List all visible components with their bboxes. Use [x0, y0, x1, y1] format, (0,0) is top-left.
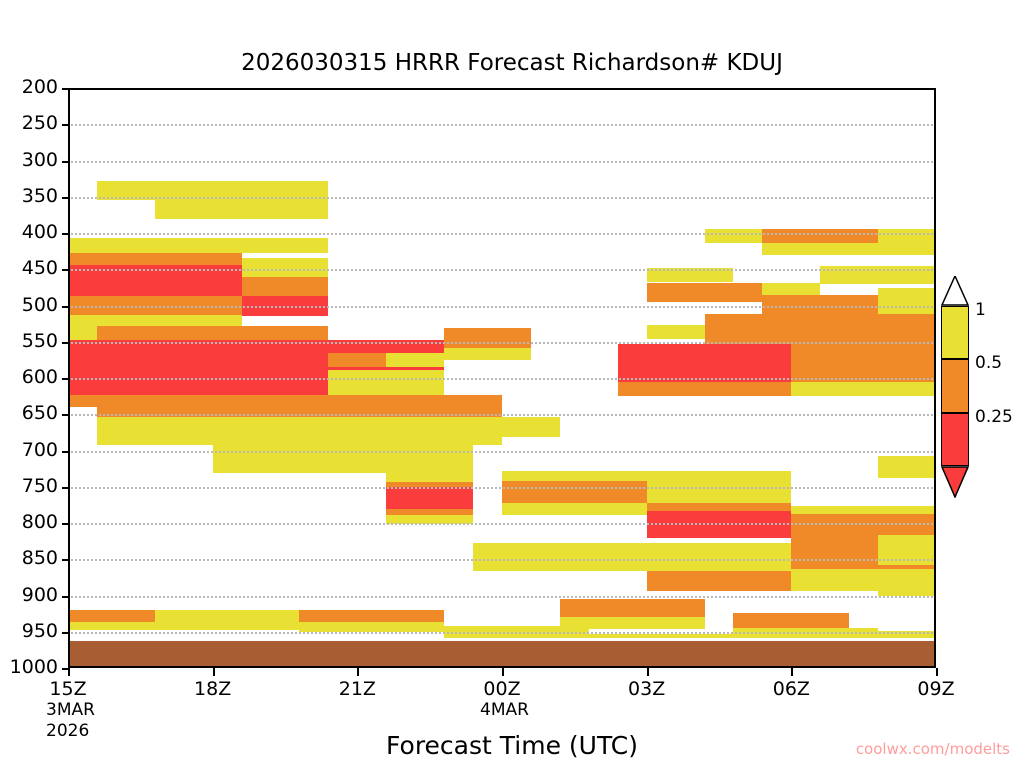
- y-axis-label: 900: [22, 584, 58, 606]
- gridline-horizontal: [68, 342, 936, 344]
- colorbar-segment: [941, 413, 969, 466]
- heatmap-cell: [68, 238, 328, 253]
- x-axis-label: 09Z: [917, 678, 954, 700]
- heatmap-cell: [791, 382, 936, 396]
- y-axis-label: 300: [22, 149, 58, 171]
- colorbar-tick-label: 0.5: [975, 353, 1002, 373]
- x-axis-tick: [357, 668, 359, 676]
- heatmap-cell: [444, 328, 531, 348]
- x-axis-date-label: 4MAR: [480, 700, 529, 720]
- gridline-horizontal: [68, 559, 936, 561]
- y-axis-tick: [62, 124, 70, 126]
- x-axis-label: 06Z: [773, 678, 810, 700]
- y-axis-tick: [62, 378, 70, 380]
- y-axis-label: 850: [22, 547, 58, 569]
- y-axis-tick: [62, 559, 70, 561]
- y-axis-label: 750: [22, 475, 58, 497]
- gridline-horizontal: [68, 632, 936, 634]
- y-axis-tick: [62, 487, 70, 489]
- gridline-horizontal: [68, 451, 936, 453]
- y-axis-tick: [62, 632, 70, 634]
- x-axis-label: 18Z: [194, 678, 231, 700]
- colorbar: 10.50.25: [941, 306, 969, 466]
- y-axis-label: 350: [22, 185, 58, 207]
- heatmap-cell: [647, 283, 763, 302]
- heatmap-cell: [68, 622, 155, 630]
- heatmap-cell: [878, 578, 936, 596]
- heatmap-cell: [68, 253, 97, 265]
- y-axis-tick: [62, 306, 70, 308]
- x-axis-tick: [213, 668, 215, 676]
- heatmap-cell: [878, 229, 936, 243]
- x-axis-tick: [68, 668, 70, 676]
- heatmap-cell: [502, 481, 647, 503]
- heatmap-cell: [68, 610, 155, 622]
- chart-page: 2026030315 HRRR Forecast Richardson# KDU…: [0, 0, 1024, 768]
- x-axis-tick: [502, 668, 504, 676]
- y-axis-label: 250: [22, 112, 58, 134]
- heatmap-cell: [705, 229, 763, 243]
- heatmap-cell: [647, 571, 792, 591]
- heatmap-cell: [299, 610, 444, 622]
- y-axis-tick: [62, 197, 70, 199]
- x-axis-tick: [936, 668, 938, 676]
- heatmap-cell: [618, 344, 792, 382]
- y-axis-tick: [62, 269, 70, 271]
- gridline-horizontal: [68, 523, 936, 525]
- gridline-horizontal: [68, 306, 936, 308]
- gridline-horizontal: [68, 197, 936, 199]
- gridline-horizontal: [68, 161, 936, 163]
- heatmap-cell: [415, 417, 560, 437]
- heatmap-plot-area: [68, 88, 936, 668]
- x-axis-label: 00Z: [483, 678, 520, 700]
- y-axis-tick: [62, 523, 70, 525]
- heatmap-cell: [560, 599, 705, 617]
- x-axis-label: 03Z: [628, 678, 665, 700]
- heatmap-cell: [791, 344, 936, 382]
- heatmap-cell: [762, 283, 820, 295]
- heatmap-cell: [386, 473, 473, 482]
- heatmap-cell: [328, 370, 444, 395]
- colorbar-tick-label: 0.25: [975, 407, 1013, 427]
- y-axis-label: 450: [22, 257, 58, 279]
- y-axis-tick: [62, 451, 70, 453]
- heatmap-cell: [647, 503, 792, 511]
- y-axis-tick: [62, 233, 70, 235]
- heatmap-cell: [878, 456, 936, 478]
- gridline-horizontal: [68, 233, 936, 235]
- heatmap-cell: [97, 326, 328, 340]
- heatmap-cell: [328, 353, 386, 367]
- y-axis-tick: [62, 414, 70, 416]
- x-axis-label: 15Z: [49, 678, 86, 700]
- heatmap-cell: [791, 506, 936, 514]
- terrain-fill: [68, 641, 936, 668]
- heatmap-cell: [878, 288, 936, 314]
- terrain-separator: [68, 638, 936, 641]
- colorbar-segment: [941, 306, 969, 359]
- heatmap-cell: [386, 353, 444, 367]
- heatmap-cell: [155, 200, 329, 219]
- x-axis-label: 21Z: [339, 678, 376, 700]
- y-axis-tick: [62, 596, 70, 598]
- x-axis-date-label: 3MAR: [46, 700, 95, 720]
- gridline-horizontal: [68, 269, 936, 271]
- gridline-horizontal: [68, 124, 936, 126]
- chart-title: 2026030315 HRRR Forecast Richardson# KDU…: [0, 50, 1024, 76]
- y-axis-label: 650: [22, 402, 58, 424]
- heatmap-cell: [97, 253, 242, 265]
- colorbar-segment: [941, 359, 969, 412]
- heatmap-cell: [299, 622, 444, 632]
- heatmap-cell: [68, 340, 328, 395]
- colorbar-tick-label: 1: [975, 300, 986, 320]
- y-axis-tick: [62, 342, 70, 344]
- y-axis-label: 550: [22, 330, 58, 352]
- heatmap-cell: [386, 487, 473, 509]
- heatmap-cell: [68, 315, 242, 326]
- heatmap-cell: [502, 503, 647, 515]
- gridline-horizontal: [68, 596, 936, 598]
- y-axis-tick: [62, 161, 70, 163]
- y-axis-label: 200: [22, 76, 58, 98]
- gridline-horizontal: [68, 378, 936, 380]
- y-axis-label: 500: [22, 294, 58, 316]
- x-axis-tick: [647, 668, 649, 676]
- heatmap-cell: [820, 243, 936, 255]
- heatmap-cell: [444, 348, 531, 360]
- watermark-link[interactable]: coolwx.com/modelts: [856, 740, 1010, 758]
- heatmap-cell: [502, 471, 647, 481]
- heatmap-cell: [68, 395, 97, 407]
- gridline-horizontal: [68, 414, 936, 416]
- y-axis-label: 950: [22, 620, 58, 642]
- y-axis-label: 400: [22, 221, 58, 243]
- heatmap-cell: [213, 436, 473, 473]
- heatmap-cell: [155, 610, 300, 630]
- y-axis-label: 600: [22, 366, 58, 388]
- y-axis-tick: [62, 88, 70, 90]
- heatmap-cell: [618, 382, 792, 396]
- colorbar-bottom-arrow: [941, 466, 969, 498]
- heatmap-cell: [473, 543, 647, 571]
- x-axis-tick: [791, 668, 793, 676]
- gridline-horizontal: [68, 487, 936, 489]
- y-axis-label: 700: [22, 439, 58, 461]
- heatmap-cell: [242, 277, 329, 296]
- heatmap-cell: [762, 243, 820, 255]
- colorbar-top-arrow: [941, 276, 969, 306]
- y-axis-label: 1000: [10, 656, 58, 678]
- y-axis-label: 800: [22, 511, 58, 533]
- heatmap-cell: [647, 543, 792, 571]
- heatmap-cell: [242, 258, 329, 277]
